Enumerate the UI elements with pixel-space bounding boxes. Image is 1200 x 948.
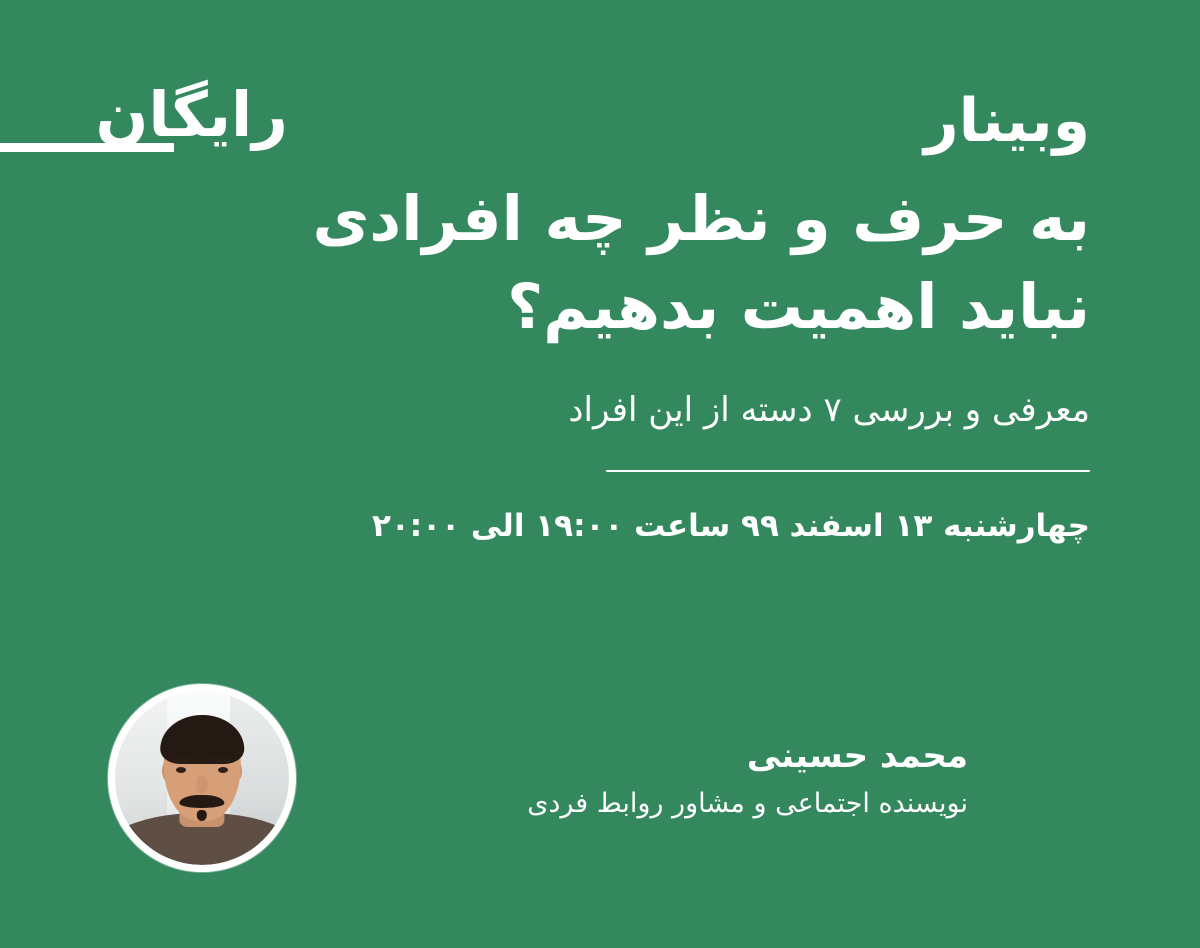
avatar-mustache	[179, 795, 224, 807]
speaker-name: محمد حسینی	[508, 734, 968, 780]
webinar-kicker: وبینار	[110, 86, 1090, 157]
speaker-block: محمد حسینی نویسنده اجتماعی و مشاور روابط…	[108, 678, 968, 878]
headline-line-2: نباید اهمیت بدهیم؟	[110, 263, 1090, 351]
page-title: به حرف و نظر چه افرادی نباید اهمیت بدهیم…	[110, 175, 1090, 351]
schedule-datetime: چهارشنبه ۱۳ اسفند ۹۹ ساعت ۱۹:۰۰ الی ۲۰:۰…	[110, 506, 1090, 546]
avatar	[108, 684, 296, 872]
webinar-poster: رایگان وبینار به حرف و نظر چه افرادی نبا…	[0, 0, 1200, 948]
speaker-details: محمد حسینی نویسنده اجتماعی و مشاور روابط…	[296, 734, 968, 822]
avatar-photo	[115, 691, 289, 865]
divider	[606, 470, 1090, 472]
speaker-role: نویسنده اجتماعی و مشاور روابط فردی	[508, 786, 968, 822]
avatar-eye-right	[218, 767, 228, 773]
avatar-eye-left	[176, 767, 186, 773]
headline-line-1: به حرف و نظر چه افرادی	[110, 175, 1090, 263]
subtitle: معرفی و بررسی ۷ دسته از این افراد	[110, 387, 1090, 435]
poster-content: وبینار به حرف و نظر چه افرادی نباید اهمی…	[110, 86, 1090, 547]
